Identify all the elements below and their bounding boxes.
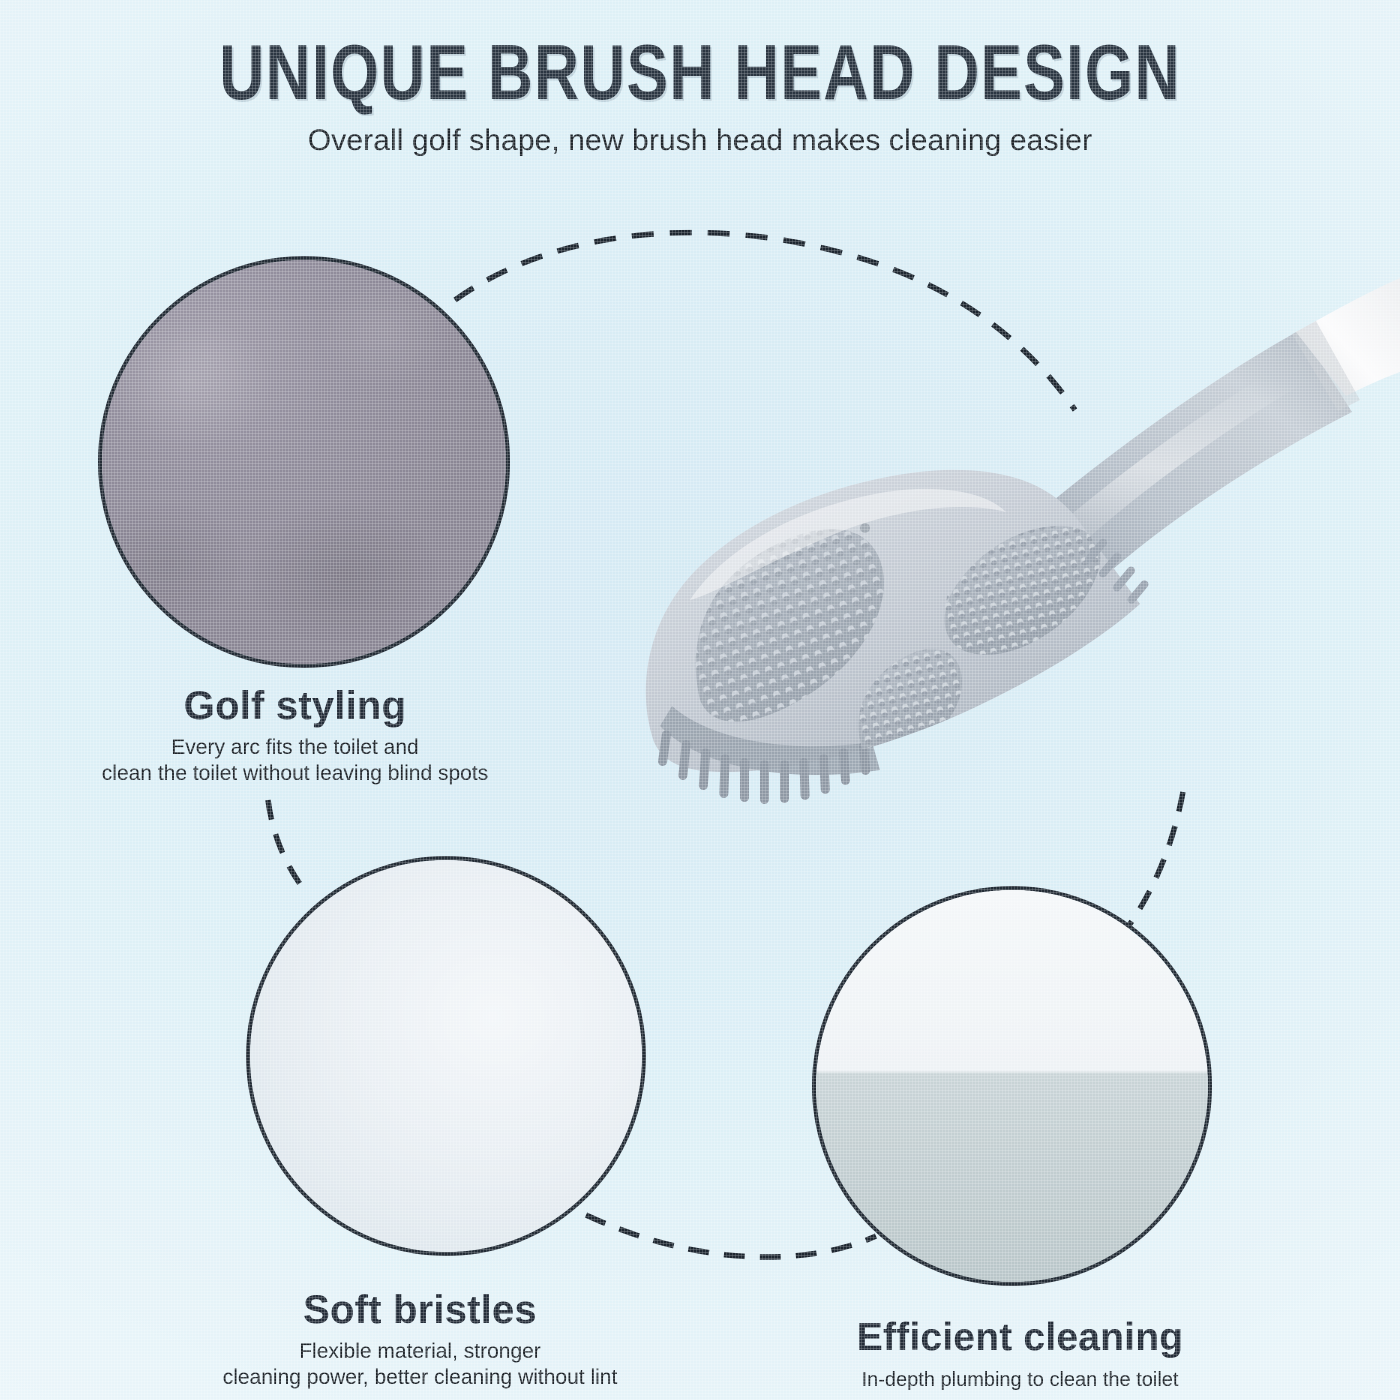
hang-hole [860,523,870,533]
page-subtitle: Overall golf shape, new brush head makes… [0,124,1400,158]
product-handle [1030,278,1400,588]
caption-heading: Soft bristles [150,1288,690,1333]
header: UNIQUE BRUSH HEAD DESIGN Overall golf sh… [0,34,1400,158]
connector-golf-styling [455,233,1075,410]
bristle-patch-large [696,529,884,722]
caption-efficient-cleaning: Efficient cleaning In-depth plumbing to … [800,1316,1240,1392]
caption-golf-styling: Golf styling Every arc fits the toilet a… [60,684,530,786]
bristle-patch-right [945,526,1101,655]
feature-image-efficient-cleaning [812,886,1212,1286]
feature-image-golf-styling [98,256,510,668]
product-brush-head [646,470,1150,804]
bristle-fringe [658,706,880,804]
bristle-patch-center [858,649,962,764]
caption-description: Every arc fits the toilet and clean the … [60,735,530,786]
page-title: UNIQUE BRUSH HEAD DESIGN [140,34,1260,110]
bristle-row-right [1083,537,1150,605]
caption-heading: Golf styling [60,684,530,729]
caption-description: In-depth plumbing to clean the toilet [800,1368,1240,1392]
infographic-canvas: UNIQUE BRUSH HEAD DESIGN Overall golf sh… [0,0,1400,1400]
caption-description: Flexible material, stronger cleaning pow… [150,1339,690,1390]
caption-soft-bristles: Soft bristles Flexible material, stronge… [150,1288,690,1390]
feature-image-soft-bristles [246,856,646,1256]
caption-heading: Efficient cleaning [800,1316,1240,1360]
